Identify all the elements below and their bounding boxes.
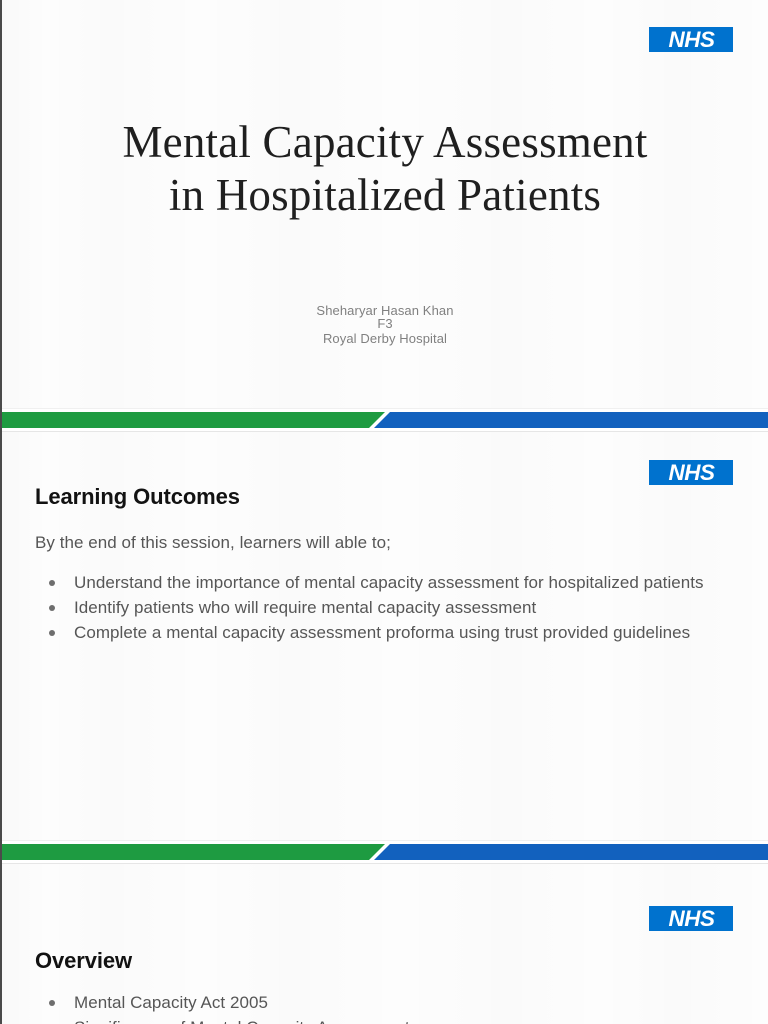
divider-green-bar — [2, 844, 385, 860]
nhs-logo-icon: NHS — [649, 460, 733, 485]
list-item-text: Identify patients who will require menta… — [74, 598, 536, 617]
divider-blue-bar — [374, 844, 768, 860]
bullet-dot-icon — [49, 630, 55, 636]
learning-outcomes-intro: By the end of this session, learners wil… — [35, 533, 391, 553]
nhs-logo-text: NHS — [668, 29, 714, 51]
nhs-logo-text: NHS — [668, 908, 714, 930]
author-organisation: Royal Derby Hospital — [2, 332, 768, 345]
author-role: F3 — [2, 317, 768, 330]
learning-outcomes-slide: NHS Learning Outcomes By the end of this… — [2, 432, 768, 840]
overview-slide: NHS Overview Mental Capacity Act 2005 Si… — [2, 864, 768, 1024]
slide-heading-learning-outcomes: Learning Outcomes — [35, 484, 240, 510]
page-title: Mental Capacity Assessment in Hospitaliz… — [2, 116, 768, 222]
bullet-dot-icon — [49, 580, 55, 586]
nhs-logo-icon: NHS — [649, 906, 733, 931]
slide-heading-overview: Overview — [35, 948, 132, 974]
bullet-dot-icon — [49, 605, 55, 611]
title-slide: NHS Mental Capacity Assessment in Hospit… — [2, 0, 768, 408]
list-item-text: Mental Capacity Act 2005 — [74, 993, 268, 1012]
divider-green-bar — [2, 412, 385, 428]
list-item: Significance of Mental Capacity Assessme… — [35, 1015, 734, 1024]
list-item: Complete a mental capacity assessment pr… — [35, 620, 734, 645]
slide-divider-bar — [2, 408, 768, 432]
nhs-logo-text: NHS — [668, 462, 714, 484]
nhs-logo-icon: NHS — [649, 27, 733, 52]
list-item: Identify patients who will require menta… — [35, 595, 734, 620]
divider-blue-bar — [374, 412, 768, 428]
list-item-text: Understand the importance of mental capa… — [74, 573, 704, 592]
list-item-text: Complete a mental capacity assessment pr… — [74, 623, 690, 642]
overview-list: Mental Capacity Act 2005 Significance of… — [35, 990, 735, 1024]
list-item: Understand the importance of mental capa… — [35, 570, 734, 595]
title-line-1: Mental Capacity Assessment — [122, 117, 647, 167]
list-item-text: Significance of Mental Capacity Assessme… — [74, 1018, 410, 1024]
title-line-2: in Hospitalized Patients — [2, 169, 768, 222]
learning-outcomes-list: Understand the importance of mental capa… — [35, 570, 735, 645]
title-block: Mental Capacity Assessment in Hospitaliz… — [2, 116, 768, 222]
divider-hairline-top — [2, 408, 768, 409]
list-item: Mental Capacity Act 2005 — [35, 990, 734, 1015]
author-block: Sheharyar Hasan Khan F3 Royal Derby Hosp… — [2, 304, 768, 347]
divider-hairline-top — [2, 840, 768, 841]
bullet-dot-icon — [49, 1000, 55, 1006]
slide-divider-bar — [2, 840, 768, 864]
slide-deck-document: NHS Mental Capacity Assessment in Hospit… — [0, 0, 768, 1024]
